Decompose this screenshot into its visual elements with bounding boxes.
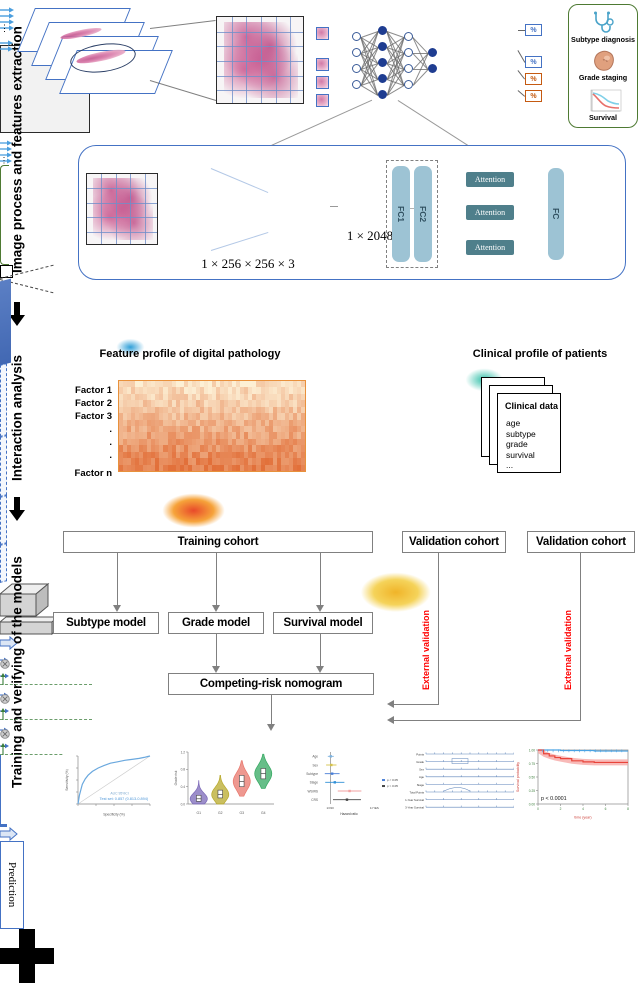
svg-text:Sensitivity (%): Sensitivity (%) bbox=[65, 769, 69, 790]
svg-text:G1: G1 bbox=[196, 811, 201, 815]
tile-gridline bbox=[101, 174, 102, 244]
attention-block-1: Attention bbox=[466, 172, 514, 187]
factor-label-3: . bbox=[56, 424, 112, 435]
connector-line bbox=[518, 30, 525, 31]
factor-label-4: . bbox=[56, 437, 112, 448]
flow-line bbox=[216, 634, 217, 666]
clinical-card-item-0: age bbox=[506, 418, 520, 428]
svg-text:4: 4 bbox=[582, 807, 584, 811]
factor-label-5: . bbox=[56, 450, 112, 461]
external-validation-label-1: External validation bbox=[421, 580, 431, 690]
svg-text:Grade: Grade bbox=[416, 760, 424, 764]
output-label-0: Subtype diagnosis bbox=[569, 35, 637, 44]
tile-gridline bbox=[116, 174, 117, 244]
conv-layer-plane bbox=[0, 543, 7, 583]
nomogram-plot-svg: PointsGradeSexAgeStageTotal Points1-Year… bbox=[400, 748, 518, 818]
svg-text:1.2: 1.2 bbox=[181, 750, 186, 754]
clinical-card-title: Clinical data bbox=[505, 401, 558, 411]
prediction-percent-box[interactable]: % bbox=[525, 90, 542, 102]
svg-text:1=YES: 1=YES bbox=[370, 806, 379, 810]
flow-line bbox=[216, 553, 217, 605]
tile-gridline bbox=[87, 203, 157, 204]
factor-label-1: Factor 2 bbox=[56, 398, 112, 409]
svg-text:Stage: Stage bbox=[417, 783, 425, 787]
validation-line-1-h bbox=[394, 704, 439, 705]
fc1-block: FC1 bbox=[392, 166, 410, 262]
feature-heatmap bbox=[118, 380, 306, 472]
clinical-outputs-panel: Subtype diagnosisGrade stagingSurvival bbox=[568, 4, 638, 128]
svg-text:2: 2 bbox=[560, 807, 562, 811]
conv-layer-plane bbox=[0, 495, 7, 545]
svg-text:Test set: 0.857 (0.813-0.894): Test set: 0.857 (0.813-0.894) bbox=[100, 797, 149, 801]
conv-layer-plane bbox=[0, 363, 7, 437]
clinical-profile-title: Clinical profile of patients bbox=[440, 348, 640, 360]
svg-text:Sex: Sex bbox=[419, 768, 424, 772]
stethoscope-icon bbox=[588, 11, 618, 35]
kidney-icon bbox=[588, 49, 618, 73]
prediction-label: Prediction bbox=[6, 862, 18, 907]
svg-text:0.00: 0.00 bbox=[529, 802, 535, 806]
svg-text:0.0: 0.0 bbox=[181, 802, 186, 806]
output-label-2: Survival bbox=[569, 113, 637, 122]
tile-gridline bbox=[145, 174, 146, 244]
prediction-box: Prediction bbox=[0, 841, 24, 929]
clinical-card-front: Clinical dataagesubtypegradesurvival... bbox=[497, 393, 561, 473]
svg-text:0: 0 bbox=[537, 807, 539, 811]
svg-text:1-Year Survival: 1-Year Survival bbox=[405, 798, 424, 802]
validation-arrowhead-1 bbox=[387, 700, 394, 708]
svg-text:0.8: 0.8 bbox=[181, 768, 186, 772]
tile-gridline bbox=[130, 174, 131, 244]
svg-text:1=NO: 1=NO bbox=[326, 806, 334, 810]
flow-line bbox=[320, 634, 321, 666]
validation-cohort-box-1[interactable]: Validation cohort bbox=[402, 531, 506, 553]
validation-line-1 bbox=[438, 553, 439, 705]
attention-heat-overlay bbox=[4, 45, 90, 133]
prediction-percent-box[interactable]: % bbox=[525, 24, 542, 36]
flow-line bbox=[320, 553, 321, 605]
clinical-card-item-1: subtype bbox=[506, 429, 536, 439]
svg-text:WSIRS: WSIRS bbox=[308, 789, 318, 793]
flow-line bbox=[271, 695, 272, 724]
violin-plot-svg: 0.00.40.81.2G1G2G3G4Grade risk bbox=[172, 746, 280, 818]
input-wsi-thumbnail bbox=[86, 173, 158, 245]
fc2-block: FC2 bbox=[414, 166, 432, 262]
flow-arrowhead bbox=[316, 605, 324, 612]
feature-profile-title: Feature profile of digital pathology bbox=[60, 348, 320, 360]
flow-arrowhead bbox=[113, 605, 121, 612]
validation-line-2 bbox=[580, 553, 581, 721]
output-label-1: Grade staging bbox=[569, 73, 637, 82]
training-cohort-box[interactable]: Training cohort bbox=[63, 531, 373, 553]
svg-text:6: 6 bbox=[605, 807, 607, 811]
nomogram-plot: PointsGradeSexAgeStageTotal Points1-Year… bbox=[400, 748, 518, 818]
roc-curve-svg: AUC 95%CITest set: 0.857 (0.813-0.894)Sp… bbox=[64, 748, 156, 818]
svg-text:0.25: 0.25 bbox=[529, 789, 535, 793]
attention-block-2: Attention bbox=[466, 205, 514, 220]
violin-plot: 0.00.40.81.2G1G2G3G4Grade risk bbox=[172, 746, 280, 818]
svg-text:8: 8 bbox=[627, 807, 629, 811]
flow-arrowhead bbox=[212, 605, 220, 612]
svg-text:G4: G4 bbox=[261, 811, 266, 815]
fc-to-prediction-arrow-icon bbox=[0, 827, 18, 841]
svg-text:Stage: Stage bbox=[310, 781, 319, 785]
validation-arrowhead-2 bbox=[387, 716, 394, 724]
validation-line-2-h bbox=[394, 720, 581, 721]
svg-text:Age: Age bbox=[312, 755, 318, 759]
tile-gridline bbox=[87, 217, 157, 218]
clinical-card-item-4: ... bbox=[506, 460, 513, 470]
svg-text:Specificity (%): Specificity (%) bbox=[103, 813, 124, 817]
svg-text:Sex: Sex bbox=[313, 763, 319, 767]
svg-text:p > 0.05: p > 0.05 bbox=[387, 784, 398, 788]
final-fc-block: FC bbox=[548, 168, 564, 260]
nomogram-box[interactable]: Competing-risk nomogram bbox=[168, 673, 374, 695]
forest-plot-svg: AgeSexSubtypeStageWSIRSCRSHazard ratio1=… bbox=[290, 746, 408, 818]
roc-curve-plot: AUC 95%CITest set: 0.857 (0.813-0.894)Sp… bbox=[64, 748, 156, 818]
forest-plot: AgeSexSubtypeStageWSIRSCRSHazard ratio1=… bbox=[290, 746, 408, 818]
kaplan-meier-plot: 0.000.250.500.751.0002468p < 0.0001time … bbox=[514, 744, 634, 820]
clinical-card-item-3: survival bbox=[506, 450, 535, 460]
svg-text:AUC 95%CI: AUC 95%CI bbox=[110, 791, 128, 795]
svg-text:G2: G2 bbox=[218, 811, 223, 815]
flow-arrowhead bbox=[267, 724, 275, 731]
plus-sign-icon bbox=[0, 929, 54, 983]
conv-layer-plane bbox=[0, 435, 7, 497]
flow-line bbox=[117, 553, 118, 605]
svg-text:time (year): time (year) bbox=[574, 816, 591, 820]
residual-path bbox=[0, 719, 92, 720]
svg-text:Grade risk: Grade risk bbox=[174, 770, 178, 785]
svg-text:Total Points: Total Points bbox=[410, 790, 425, 794]
grade-model-box[interactable]: Grade model bbox=[168, 612, 264, 634]
attention-heatmap-slide bbox=[0, 45, 90, 133]
svg-text:CRS: CRS bbox=[311, 798, 318, 802]
prediction-percent-box[interactable]: % bbox=[525, 73, 542, 85]
subtype-model-box[interactable]: Subtype model bbox=[53, 612, 159, 634]
svg-text:Age: Age bbox=[419, 775, 424, 779]
svg-text:3-Year Survival: 3-Year Survival bbox=[405, 806, 424, 810]
flow-arrowhead bbox=[212, 666, 220, 673]
svg-text:p < 0.05: p < 0.05 bbox=[387, 778, 398, 782]
svg-text:G3: G3 bbox=[239, 811, 244, 815]
factor-label-6: Factor n bbox=[56, 468, 112, 479]
svg-text:0.4: 0.4 bbox=[181, 785, 186, 789]
svg-text:p < 0.0001: p < 0.0001 bbox=[541, 796, 567, 802]
svg-text:Subtype: Subtype bbox=[306, 772, 318, 776]
factor-label-2: Factor 3 bbox=[56, 411, 112, 422]
svg-text:0.75: 0.75 bbox=[529, 762, 535, 766]
residual-path bbox=[0, 684, 92, 685]
connector-line bbox=[330, 206, 338, 207]
svg-text:1.00: 1.00 bbox=[529, 748, 535, 752]
svg-text:0.50: 0.50 bbox=[529, 775, 535, 779]
conv-input-plane bbox=[0, 279, 11, 366]
svg-text:Hazard ratio: Hazard ratio bbox=[340, 812, 358, 816]
figure-canvas: Image process and features extractionInt… bbox=[0, 0, 640, 825]
prediction-percent-box[interactable]: % bbox=[525, 56, 542, 68]
clinical-card-item-2: grade bbox=[506, 439, 528, 449]
tile-gridline bbox=[87, 188, 157, 189]
survival-curve-icon bbox=[588, 89, 618, 113]
svg-text:Survival probability: Survival probability bbox=[516, 762, 520, 792]
factor-label-0: Factor 1 bbox=[56, 385, 112, 396]
flow-arrowhead bbox=[316, 666, 324, 673]
cnn-architecture-panel bbox=[78, 145, 626, 280]
tile-gridline bbox=[87, 232, 157, 233]
input-dimension-label: 1 × 256 × 256 × 3 bbox=[168, 256, 328, 272]
validation-cohort-box-2[interactable]: Validation cohort bbox=[527, 531, 635, 553]
heatmap-cell bbox=[301, 465, 305, 471]
survival-model-box[interactable]: Survival model bbox=[273, 612, 373, 634]
kaplan-meier-svg: 0.000.250.500.751.0002468p < 0.0001time … bbox=[514, 744, 634, 820]
external-validation-label-2: External validation bbox=[563, 580, 573, 690]
attention-block-3: Attention bbox=[466, 240, 514, 255]
svg-text:Points: Points bbox=[416, 752, 424, 756]
